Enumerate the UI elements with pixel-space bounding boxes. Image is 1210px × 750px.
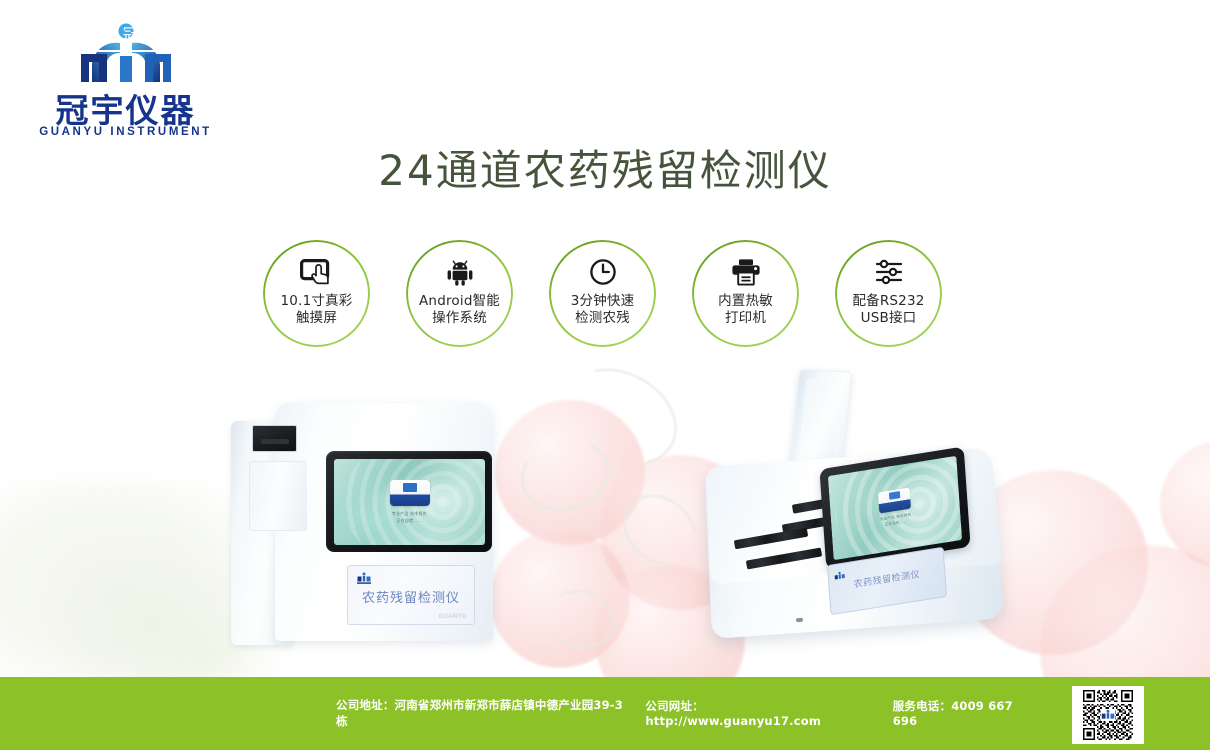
feature-label: 10.1寸真彩 触摸屏 — [281, 293, 353, 327]
device-label-text: 农药残留检测仪 — [828, 563, 945, 594]
touchscreen-icon — [300, 257, 334, 287]
footer-address: 公司地址：河南省郑州市新郑市薛店镇中德产业园39-3栋 — [336, 697, 623, 729]
background-tomato — [495, 400, 645, 545]
company-name-box: 河南冠宇仪器有限公司 — [72, 14, 290, 52]
qr-code-icon[interactable] — [1072, 686, 1144, 744]
device-label-logo-icon — [356, 571, 372, 583]
feature-fast-detection: 3分钟快速 检测农残 — [549, 240, 656, 347]
screen-logo-badge — [390, 480, 430, 506]
screen-text-line2: 正在自检...... — [397, 517, 422, 524]
device-label-logo-icon — [833, 566, 845, 577]
qr-center-logo-icon — [1101, 709, 1116, 721]
background-tomato — [490, 530, 630, 668]
brand-name-cn: 冠宇仪器 — [38, 84, 213, 132]
printer-icon — [731, 257, 761, 287]
background-tomato-stem — [540, 583, 621, 654]
feature-android-os: Android智能 操作系统 — [406, 240, 513, 347]
footer-website[interactable]: 公司网址：http://www.guanyu17.com — [645, 698, 870, 728]
feature-label: 内置热敏 打印机 — [718, 293, 773, 327]
feature-list: 10.1寸真彩 触摸屏 — [263, 240, 953, 352]
sliders-icon — [874, 257, 904, 287]
screen-logo-badge — [878, 487, 911, 513]
product-poster: 冠宇仪器 GUANYU INSTRUMENT 24通道农药残留检测仪 10.1寸… — [0, 0, 1210, 750]
sample-well-row — [734, 528, 808, 550]
footer-phone: 服务电话：4009 667 696 — [893, 698, 1036, 728]
clock-icon — [589, 257, 617, 287]
device-label-text: 农药残留检测仪 — [347, 587, 475, 606]
page-title: 24通道农药残留检测仪 — [0, 137, 1210, 198]
feature-label: 3分钟快速 检测农残 — [571, 293, 635, 327]
company-name: 河南冠宇仪器有限公司 — [84, 21, 279, 46]
feature-interfaces: 配备RS232 USB接口 — [835, 240, 942, 347]
feature-touchscreen: 10.1寸真彩 触摸屏 — [263, 240, 370, 347]
background-tomato-stem — [546, 349, 694, 485]
device-printer-slot — [252, 425, 297, 452]
screen-text-line1: 专业产品 技术领先 — [392, 510, 427, 517]
feature-label: Android智能 操作系统 — [419, 293, 500, 327]
device-sample-drawer — [249, 461, 307, 531]
background-tomato-stem — [512, 430, 617, 521]
sample-well-row — [746, 547, 822, 569]
product-image-angled: 专业产品 技术领先 正在自检...... 农药残留检测仪 — [700, 370, 1000, 655]
device-front-label-panel: 农药残留检测仪 GUANYU — [347, 565, 475, 625]
footer-contact-info: 公司地址：河南省郑州市新郑市薛店镇中德产业园39-3栋 公司网址：http://… — [336, 702, 1036, 724]
device-label-sub: GUANYU — [438, 614, 467, 620]
device-screen: 专业产品 技术领先 正在自检...... — [828, 456, 962, 560]
background-tomato — [1160, 440, 1210, 568]
feature-thermal-printer: 内置热敏 打印机 — [692, 240, 799, 347]
device-screen: 专业产品 技术领先 正在自检...... — [334, 459, 485, 545]
device-screen-bezel: 专业产品 技术领先 正在自检...... — [326, 451, 492, 552]
product-image-front: 专业产品 技术领先 正在自检...... 农药残留检测仪 GUANYU — [231, 403, 493, 645]
android-robot-icon — [446, 257, 474, 287]
background-tomato-stem — [609, 480, 711, 580]
feature-label: 配备RS232 USB接口 — [852, 293, 924, 327]
